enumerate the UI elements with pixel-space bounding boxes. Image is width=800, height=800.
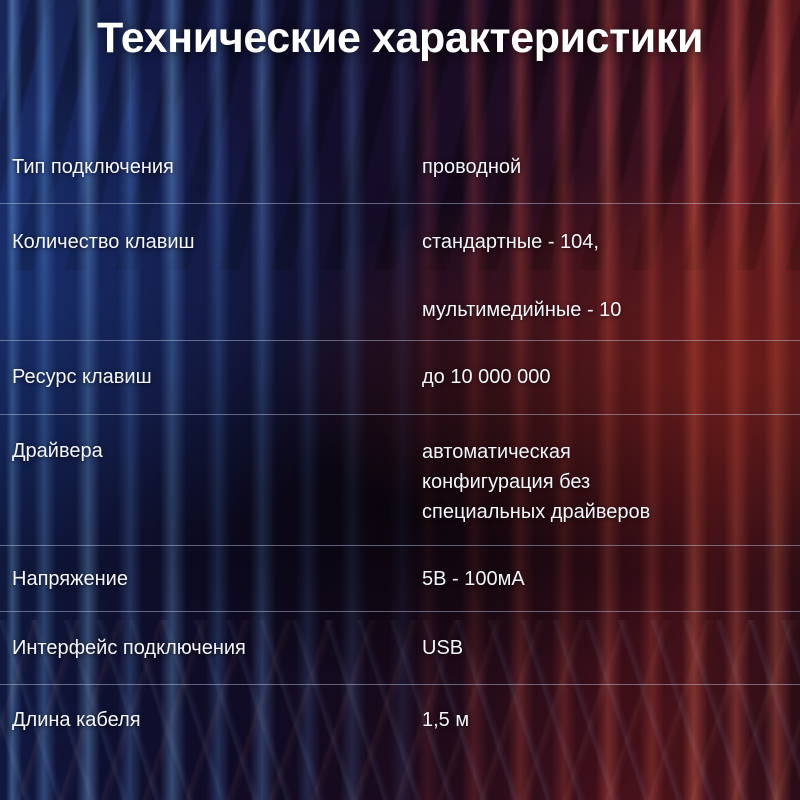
spec-value-line: 5В - 100мА xyxy=(422,565,786,594)
content-overlay: Технические характеристики Тип подключен… xyxy=(0,0,800,800)
spec-value-line: конфигурация без xyxy=(422,467,786,497)
page-title: Технические характеристики xyxy=(0,13,800,63)
spec-value-line: стандартные - 104, xyxy=(422,228,786,257)
spec-value: до 10 000 000 xyxy=(422,363,800,392)
table-row: Количество клавиш стандартные - 104, мул… xyxy=(0,203,800,340)
spec-sheet-image: Технические характеристики Тип подключен… xyxy=(0,0,800,800)
spec-label: Количество клавиш xyxy=(0,228,422,257)
spec-value-line: 1,5 м xyxy=(422,706,786,735)
spec-label: Длина кабеля xyxy=(0,706,422,735)
spec-value-line: до 10 000 000 xyxy=(422,363,786,392)
specifications-table: Тип подключения проводной Количество кла… xyxy=(0,131,800,744)
spec-label: Ресурс клавиш xyxy=(0,363,422,392)
spec-value-line: специальных драйверов xyxy=(422,497,786,527)
table-row: Длина кабеля 1,5 м xyxy=(0,684,800,744)
table-row: Интерфейс подключения USB xyxy=(0,611,800,684)
spec-value: стандартные - 104, мультимедийные - 10 xyxy=(422,228,800,325)
spec-label: Напряжение xyxy=(0,565,422,594)
spec-value-line: автоматическая xyxy=(422,437,786,467)
spec-value-line: USB xyxy=(422,634,786,663)
spec-label: Тип подключения xyxy=(0,153,422,182)
table-row: Ресурс клавиш до 10 000 000 xyxy=(0,340,800,414)
spec-value-line: мультимедийные - 10 xyxy=(422,296,786,325)
spec-label: Интерфейс подключения xyxy=(0,634,422,663)
table-row: Драйвера автоматическая конфигурация без… xyxy=(0,414,800,545)
spec-value: автоматическая конфигурация без специаль… xyxy=(422,437,800,527)
spec-value: USB xyxy=(422,634,800,663)
spec-label: Драйвера xyxy=(0,437,422,466)
spec-value: 5В - 100мА xyxy=(422,565,800,594)
table-row: Тип подключения проводной xyxy=(0,131,800,203)
spec-value: проводной xyxy=(422,153,800,182)
table-row: Напряжение 5В - 100мА xyxy=(0,545,800,611)
spec-value-line: проводной xyxy=(422,153,786,182)
spec-value: 1,5 м xyxy=(422,706,800,735)
